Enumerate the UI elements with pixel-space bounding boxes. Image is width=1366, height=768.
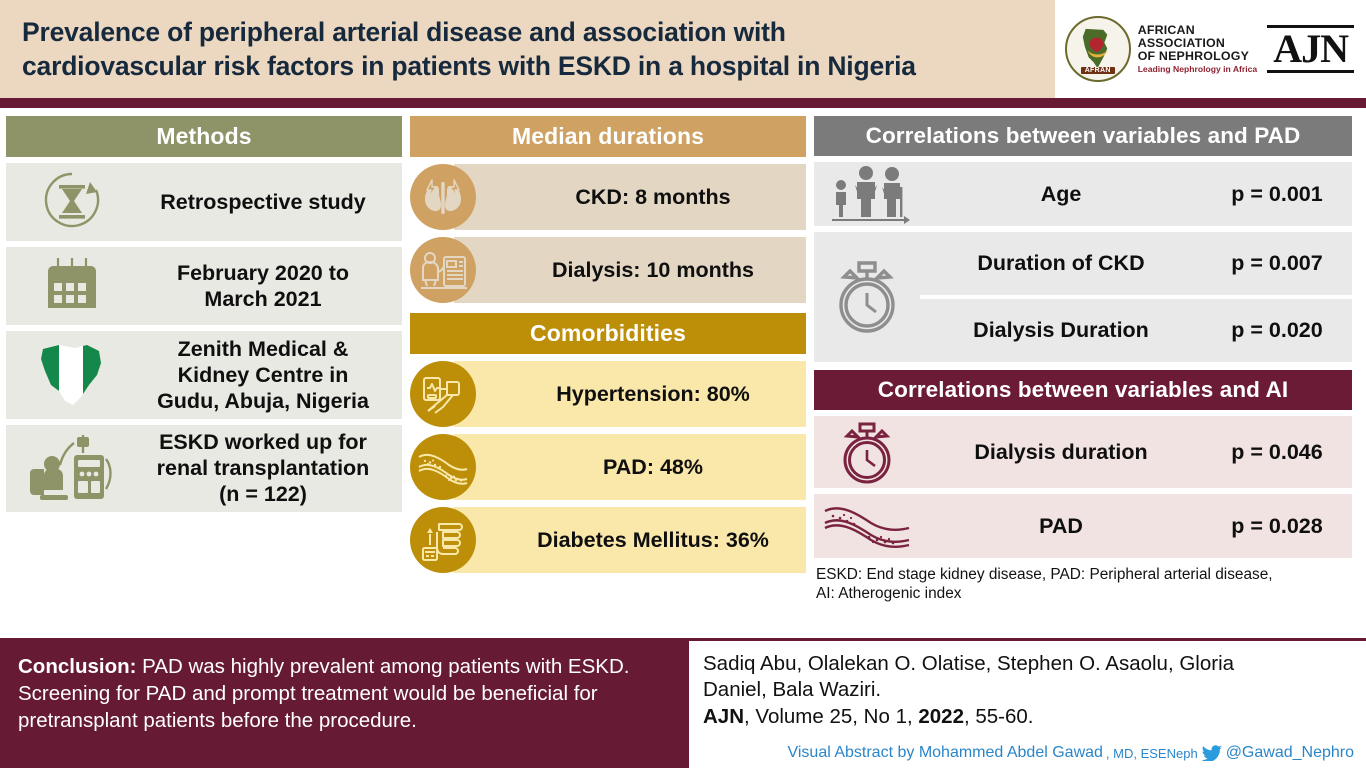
correlations-pad-heading: Correlations between variables and PAD [814, 116, 1352, 156]
correlation-row: Age p = 0.001 [814, 162, 1352, 226]
main-content: Methods Retrospective study [0, 108, 1366, 640]
correlation-variable: Dialysis Duration [920, 318, 1202, 343]
journal-abbrev: AJN [703, 705, 744, 728]
hourglass-refresh-icon [8, 168, 136, 236]
comorbidities-heading: Comorbidities [410, 313, 806, 354]
journal-pages: , 55-60. [964, 705, 1034, 728]
visual-abstract-poster: Prevalence of peripheral arterial diseas… [0, 0, 1366, 768]
twitter-bird-icon[interactable] [1201, 745, 1223, 761]
median-duration-label: CKD: 8 months [575, 185, 730, 210]
dialysis-machine-icon [410, 237, 476, 303]
correlation-variable: Age [920, 182, 1202, 207]
methods-heading: Methods [6, 116, 402, 157]
afran-seal-label: AFRAN [1081, 67, 1115, 74]
aging-people-icon [814, 163, 920, 225]
median-durations-heading: Median durations [410, 116, 806, 157]
dialysis-patient-icon [8, 429, 136, 507]
methods-row: Retrospective study [6, 163, 402, 241]
artery-plaque-icon [814, 497, 920, 555]
methods-row: ESKD worked up for renal transplantation… [6, 425, 402, 512]
methods-row-label: Zenith Medical & Kidney Centre in Gudu, … [136, 336, 396, 415]
afran-line-1: AFRICAN [1138, 24, 1258, 37]
comorbidity-label: Hypertension: 80% [556, 382, 750, 407]
correlations-column: Correlations between variables and PAD [814, 116, 1352, 604]
afran-seal-icon: AFRAN [1065, 16, 1131, 82]
median-duration-label: Dialysis: 10 months [552, 258, 754, 283]
journal-year: 2022 [918, 705, 964, 728]
correlation-p-value: p = 0.007 [1202, 251, 1352, 276]
comorbidity-bar: Diabetes Mellitus: 36% [454, 507, 806, 573]
correlation-variable: PAD [920, 514, 1202, 539]
methods-row: February 2020 to March 2021 [6, 247, 402, 325]
correlation-row: PAD p = 0.028 [814, 494, 1352, 558]
correlation-variable: Dialysis duration [920, 440, 1202, 465]
correlation-p-value: p = 0.028 [1202, 514, 1352, 539]
blood-pressure-monitor-icon [410, 361, 476, 427]
africa-kidney-hands-icon [1074, 25, 1121, 72]
correlation-row: Dialysis duration p = 0.046 [814, 416, 1352, 488]
artery-plaque-icon [410, 434, 476, 500]
comorbidity-label: Diabetes Mellitus: 36% [537, 528, 769, 553]
afran-tagline: Leading Nephrology in Africa [1138, 65, 1258, 74]
correlation-row-merged: Duration of CKD p = 0.007 Dialysis Durat… [814, 232, 1352, 362]
median-duration-bar: Dialysis: 10 months [454, 237, 806, 303]
attribution-credentials: , MD, ESENeph [1106, 746, 1198, 761]
nigeria-map-icon [8, 335, 136, 415]
kidneys-lightning-icon [410, 164, 476, 230]
methods-row-label: ESKD worked up for renal transplantation… [136, 429, 396, 508]
correlation-subrow: Dialysis Duration p = 0.020 [920, 299, 1352, 362]
logo-group: AFRAN AFRICAN ASSOCIATION OF NEPHROLOGY … [1055, 0, 1366, 98]
journal-volume: , Volume 25, No 1, [744, 705, 918, 728]
comorbidity-row: PAD: 48% [410, 434, 806, 500]
header-divider [0, 98, 1366, 108]
correlation-variable: Duration of CKD [920, 251, 1202, 276]
afran-logo: AFRAN AFRICAN ASSOCIATION OF NEPHROLOGY … [1065, 16, 1258, 82]
afran-wordmark: AFRICAN ASSOCIATION OF NEPHROLOGY Leadin… [1138, 24, 1258, 75]
correlation-subrow: Duration of CKD p = 0.007 [920, 232, 1352, 295]
correlation-p-value: p = 0.020 [1202, 318, 1352, 343]
median-duration-row: CKD: 8 months [410, 164, 806, 230]
glucose-meter-finger-icon [410, 507, 476, 573]
afran-line-3: OF NEPHROLOGY [1138, 50, 1258, 63]
methods-row-label: Retrospective study [136, 189, 396, 215]
citation-authors: Sadiq Abu, Olalekan O. Olatise, Stephen … [703, 651, 1354, 703]
methods-row-label: February 2020 to March 2021 [136, 260, 396, 312]
methods-row: Zenith Medical & Kidney Centre in Gudu, … [6, 331, 402, 419]
stopwatch-icon [814, 416, 920, 488]
comorbidity-row: Hypertension: 80% [410, 361, 806, 427]
comorbidity-bar: PAD: 48% [454, 434, 806, 500]
twitter-handle[interactable]: @Gawad_Nephro [1226, 744, 1354, 762]
attribution-author: Visual Abstract by Mohammed Abdel Gawad [787, 744, 1102, 762]
correlation-p-value: p = 0.001 [1202, 182, 1352, 207]
ajn-logo: AJN [1267, 25, 1354, 73]
citation-block: Sadiq Abu, Olalekan O. Olatise, Stephen … [687, 641, 1366, 768]
median-duration-row: Dialysis: 10 months [410, 237, 806, 303]
correlation-stack: Duration of CKD p = 0.007 Dialysis Durat… [920, 232, 1352, 362]
poster-footer: Conclusion: PAD was highly prevalent amo… [0, 638, 1366, 768]
correlation-p-value: p = 0.046 [1202, 440, 1352, 465]
median-comorbidities-column: Median durations CKD: 8 months [410, 116, 806, 573]
methods-column: Methods Retrospective study [6, 116, 402, 512]
conclusion-block: Conclusion: PAD was highly prevalent amo… [0, 641, 687, 768]
citation-journal: AJN, Volume 25, No 1, 2022, 55-60. [703, 704, 1354, 731]
median-duration-bar: CKD: 8 months [454, 164, 806, 230]
stopwatch-icon [814, 232, 920, 362]
attribution-line: Visual Abstract by Mohammed Abdel Gawad,… [703, 744, 1354, 764]
calendar-icon [8, 253, 136, 319]
abbreviations-footnote: ESKD: End stage kidney disease, PAD: Per… [814, 565, 1352, 604]
page-title: Prevalence of peripheral arterial diseas… [0, 9, 1055, 90]
comorbidity-label: PAD: 48% [603, 455, 703, 480]
correlations-ai-heading: Correlations between variables and AI [814, 370, 1352, 410]
poster-header: Prevalence of peripheral arterial diseas… [0, 0, 1366, 98]
conclusion-label: Conclusion: [18, 655, 136, 678]
comorbidity-row: Diabetes Mellitus: 36% [410, 507, 806, 573]
comorbidity-bar: Hypertension: 80% [454, 361, 806, 427]
